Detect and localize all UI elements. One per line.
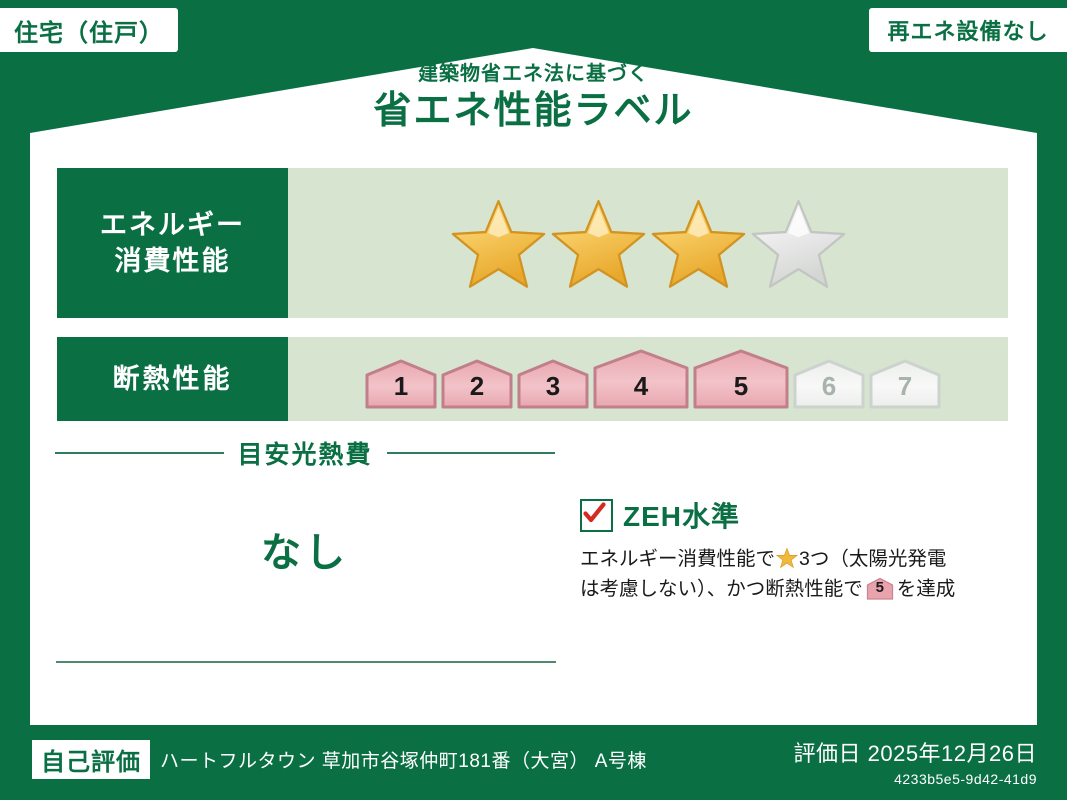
energy-performance-label: 住宅（住戸） 再エネ設備なし 建築物省エネ法に基づく 省エネ性能ラベル エネルギ… — [0, 0, 1067, 800]
house-chip-active: 2 — [440, 358, 514, 410]
star-filled-icon — [551, 197, 646, 289]
utility-cost-rule-right — [387, 452, 556, 454]
label-id: 4233b5e5-9d42-41d9 — [793, 771, 1037, 787]
footer-right-group: 評価日 2025年12月26日 4233b5e5-9d42-41d9 — [793, 736, 1037, 787]
renewable-equipment-tag: 再エネ設備なし — [869, 8, 1067, 52]
star-filled-icon — [451, 197, 546, 289]
house-chip-active: 1 — [364, 358, 438, 410]
zeh-title-row: ZEH水準 — [580, 495, 1020, 535]
inline-house-chip-number: 5 — [866, 576, 894, 599]
label-main-title: 省エネ性能ラベル — [0, 88, 1067, 136]
utility-cost-value: なし — [55, 520, 555, 578]
zeh-description-part1: エネルギー消費性能で — [580, 548, 775, 570]
insulation-house-scale: 1234567 — [364, 348, 942, 410]
evaluation-date-label: 評価日 — [793, 741, 861, 766]
energy-performance-value-cell — [288, 168, 1008, 318]
star-filled-icon — [651, 197, 746, 289]
self-evaluation-badge: 自己評価 — [32, 740, 150, 779]
utility-cost-underline — [56, 661, 556, 663]
label-title-block: 建築物省エネ法に基づく 省エネ性能ラベル — [0, 62, 1067, 136]
label-subtitle: 建築物省エネ法に基づく — [0, 62, 1067, 86]
insulation-performance-label-line1: 断熱性能 — [113, 361, 233, 397]
energy-performance-label-cell: エネルギー 消費性能 — [57, 168, 288, 318]
star-rating-group — [451, 197, 846, 289]
inline-house-chip-icon: 5 — [866, 577, 894, 600]
renewable-equipment-tag-label: 再エネ設備なし — [887, 14, 1048, 46]
zeh-title: ZEH水準 — [623, 495, 740, 535]
label-footer: 自己評価 ハートフルタウン 草加市谷塚仲町181番（大宮） A号棟 評価日 20… — [0, 726, 1067, 800]
evaluation-date: 評価日 2025年12月26日 — [793, 736, 1037, 768]
insulation-performance-label-cell: 断熱性能 — [57, 337, 288, 421]
zeh-description-star-count: 3つ（太陽光発電 — [799, 548, 946, 570]
inline-star-icon — [776, 547, 798, 569]
property-address: ハートフルタウン 草加市谷塚仲町181番（大宮） A号棟 — [160, 746, 647, 773]
house-chip-active: 5 — [692, 348, 790, 410]
utility-cost-header-label: 目安光熱費 — [224, 435, 387, 471]
house-chip-active: 3 — [516, 358, 590, 410]
energy-performance-row: エネルギー 消費性能 — [57, 168, 1008, 318]
utility-cost-rule-left — [55, 452, 224, 454]
house-chip-inactive: 7 — [868, 358, 942, 410]
zeh-checkbox — [580, 499, 613, 532]
house-chip-number: 5 — [692, 371, 790, 402]
house-type-tag-label: 住宅（住戸） — [14, 13, 164, 48]
house-chip-active: 4 — [592, 348, 690, 410]
zeh-standard-block: ZEH水準 エネルギー消費性能で 3つ（太陽光発電 は考慮しない）、かつ断熱性能… — [580, 495, 1020, 604]
house-chip-number: 1 — [364, 371, 438, 402]
insulation-performance-value-cell: 1234567 — [288, 337, 1008, 421]
house-chip-number: 2 — [440, 371, 514, 402]
check-icon — [582, 501, 607, 526]
house-chip-inactive: 6 — [792, 358, 866, 410]
zeh-description: エネルギー消費性能で 3つ（太陽光発電 は考慮しない）、かつ断熱性能で 5を達成 — [580, 544, 1020, 604]
house-chip-number: 4 — [592, 371, 690, 402]
energy-performance-label-line1: エネルギー — [100, 207, 245, 243]
house-chip-number: 7 — [868, 371, 942, 402]
house-chip-number: 6 — [792, 371, 866, 402]
star-empty-icon — [751, 197, 846, 289]
house-chip-number: 3 — [516, 371, 590, 402]
insulation-performance-row: 断熱性能 1234567 — [57, 337, 1008, 421]
footer-left-group: 自己評価 ハートフルタウン 草加市谷塚仲町181番（大宮） A号棟 — [32, 740, 647, 779]
energy-performance-label-line2: 消費性能 — [115, 243, 231, 279]
zeh-description-part3: を達成 — [897, 578, 956, 600]
evaluation-date-value: 2025年12月26日 — [868, 741, 1037, 766]
utility-cost-header: 目安光熱費 — [55, 438, 555, 468]
house-type-tag: 住宅（住戸） — [0, 8, 178, 52]
zeh-description-part2: は考慮しない）、かつ断熱性能で — [580, 578, 863, 600]
